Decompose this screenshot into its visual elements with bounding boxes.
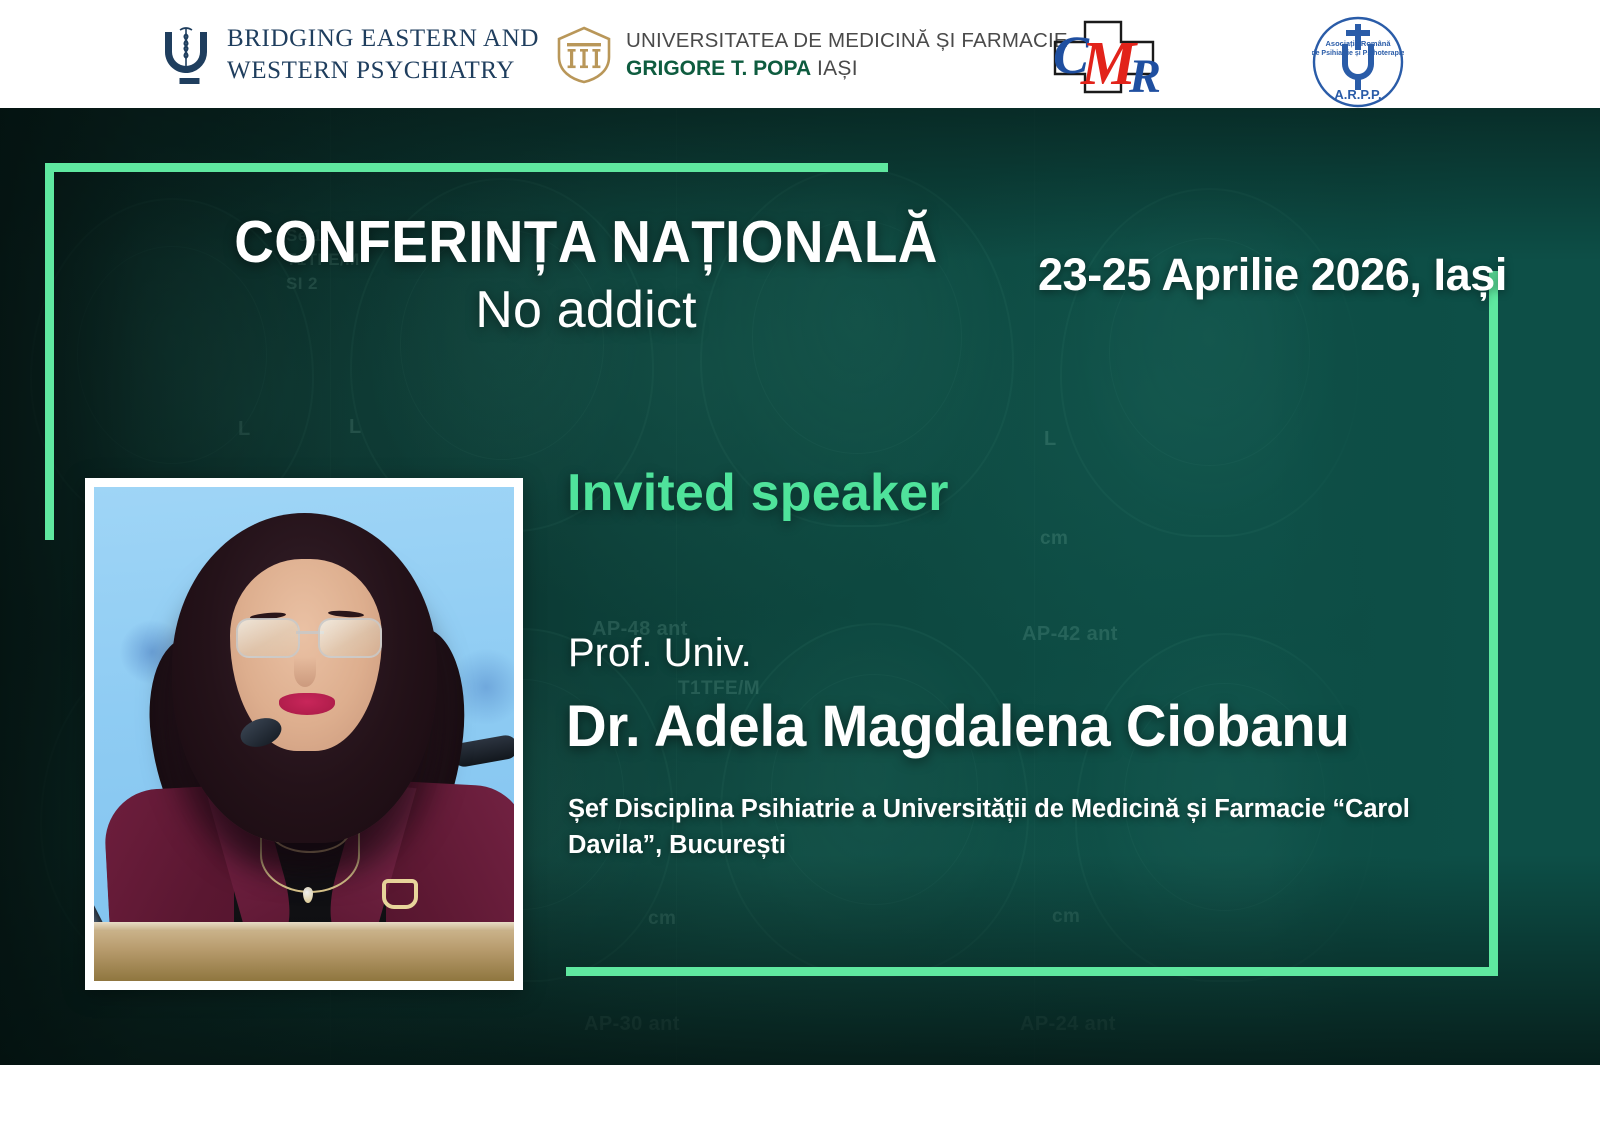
eyeglasses (236, 618, 382, 658)
frame-bracket-bottom (566, 967, 1498, 976)
logo-cmr: C M R (1035, 18, 1175, 96)
invited-speaker-label: Invited speaker (567, 463, 949, 523)
logo-umf-grigore-t-popa: UNIVERSITATEA DE MEDICINĂ ȘI FARMACIE GR… (556, 26, 1068, 84)
conference-subtitle: No addict (0, 280, 1172, 340)
speaker-photo-frame (85, 478, 523, 990)
bottom-white-strip (0, 1065, 1600, 1130)
speaker-portrait (94, 487, 514, 981)
arpp-psi-seal-icon: Asociația Română de Psihiatrie și Psihot… (1312, 16, 1404, 108)
lapel-brooch (382, 879, 418, 909)
logo-umf-line1: UNIVERSITATEA DE MEDICINĂ ȘI FARMACIE (626, 28, 1068, 55)
psi-caduceus-icon (155, 24, 217, 86)
logo-umf-line2: GRIGORE T. POPA IAȘI (626, 55, 1068, 82)
frame-bracket-top (45, 163, 888, 172)
nose (294, 657, 316, 687)
svg-text:Asociația Română: Asociația Română (1325, 39, 1391, 48)
speaker-affiliation: Șef Disciplina Psihiatrie a Universități… (568, 791, 1468, 863)
frame-bracket-right (1489, 271, 1498, 976)
umf-shield-icon (556, 26, 612, 84)
speaker-name: Dr. Adela Magdalena Ciobanu (566, 693, 1350, 760)
svg-text:de Psihiatrie și Psihoterapie: de Psihiatrie și Psihoterapie (1312, 50, 1404, 57)
speaker-title-prefix: Prof. Univ. (568, 631, 752, 676)
svg-text:R: R (1128, 50, 1161, 96)
logo-bewp-line1: BRIDGING EASTERN AND (227, 23, 539, 55)
lens-left (236, 618, 300, 658)
poster-stage: Se 11 T1TFE/M SI 2 L L L AP-48 ant AP-42… (0, 108, 1600, 1065)
logo-umf-city: IAȘI (817, 57, 858, 80)
logo-bridging-eastern-western-psychiatry: BRIDGING EASTERN AND WESTERN PSYCHIATRY (155, 23, 539, 87)
lens-right (318, 618, 382, 658)
logo-bewp-text: BRIDGING EASTERN AND WESTERN PSYCHIATRY (227, 23, 539, 87)
conference-poster: BRIDGING EASTERN AND WESTERN PSYCHIATRY (0, 0, 1600, 1130)
sponsor-logo-bar: BRIDGING EASTERN AND WESTERN PSYCHIATRY (0, 0, 1600, 108)
conference-title: CONFERINȚA NAȚIONALĂ (41, 208, 1131, 276)
podium (94, 929, 514, 981)
logo-umf-bold: GRIGORE T. POPA (626, 57, 811, 80)
cmr-cross-icon: C M R (1035, 18, 1175, 96)
logo-arpp: Asociația Română de Psihiatrie și Psihot… (1312, 16, 1404, 108)
logo-bewp-line2: WESTERN PSYCHIATRY (227, 55, 539, 87)
logo-umf-text: UNIVERSITATEA DE MEDICINĂ ȘI FARMACIE GR… (626, 28, 1068, 82)
svg-text:A.R.P.P.: A.R.P.P. (1334, 87, 1381, 102)
